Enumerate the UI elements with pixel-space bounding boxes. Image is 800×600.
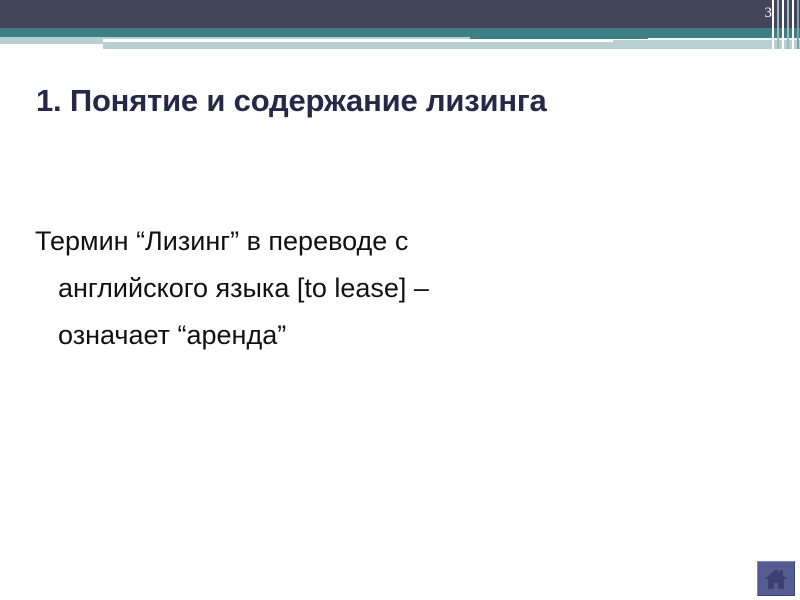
edge-stripe-dark-3 [784, 0, 786, 28]
edge-stripe-6 [797, 0, 799, 49]
slide-body-text: Термин “Лизинг” в переводе с английского… [35, 218, 655, 359]
presentation-slide: 3 1. Понятие и содержание лизинга Термин… [0, 0, 800, 600]
home-icon [758, 568, 794, 590]
body-line: английского языка [to lease] – [35, 265, 655, 312]
home-button[interactable] [757, 561, 795, 596]
page-title: 1. Понятие и содержание лизинга [36, 83, 756, 119]
page-number: 3 [765, 6, 773, 21]
header-teal-band-left [0, 28, 470, 37]
edge-stripe-dark-2 [779, 0, 781, 28]
body-line: означает “аренда” [35, 312, 655, 359]
header-dark-band [0, 0, 800, 28]
body-line: Термин “Лизинг” в переводе с [35, 218, 655, 265]
edge-stripe-dark-4 [789, 0, 791, 28]
edge-stripe-dark-5 [794, 0, 796, 28]
header-light-band-middle [103, 42, 613, 49]
edge-stripe-dark-1 [774, 0, 776, 28]
